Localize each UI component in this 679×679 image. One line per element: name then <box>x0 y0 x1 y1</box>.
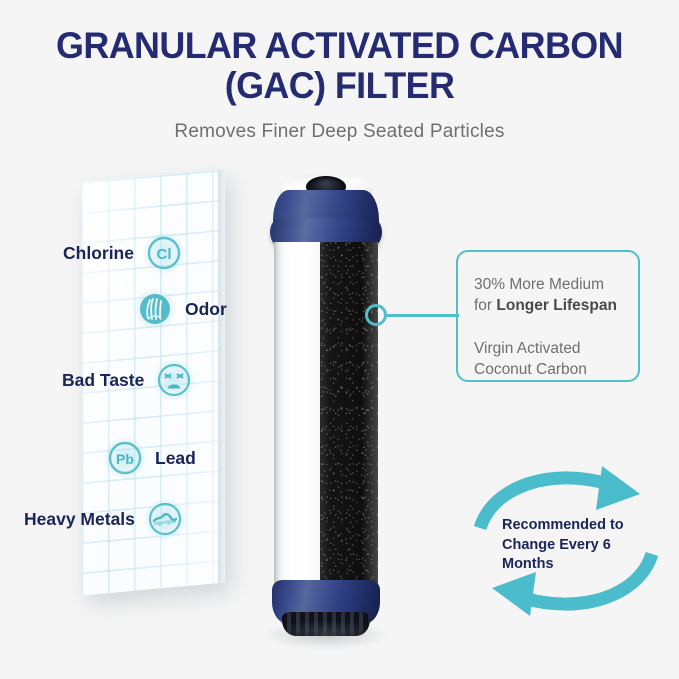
chlorine-cl-icon: Cl <box>143 232 185 274</box>
feature-lead: Pb Lead <box>104 437 196 479</box>
membrane-right-edge <box>218 169 225 583</box>
feature-odor: Odor <box>134 288 227 330</box>
callout-box: 30% More Medium for Longer Lifespan Virg… <box>456 250 640 382</box>
feature-bad-taste-label: Bad Taste <box>62 370 144 391</box>
title-line-1: GRANULAR ACTIVATED CARBON <box>56 25 623 66</box>
callout-line-1-top: 30% More Medium <box>474 276 604 293</box>
cartridge-body <box>274 242 378 590</box>
feature-odor-label: Odor <box>185 299 227 320</box>
title-line-2: (GAC) FILTER <box>10 66 669 106</box>
feature-heavy-metals-label: Heavy Metals <box>24 509 135 530</box>
cartridge-drop-shadow <box>262 620 390 650</box>
svg-text:Pb: Pb <box>116 451 134 467</box>
callout-connector-line <box>386 314 459 317</box>
replacement-interval-badge: Recommended to Change Every 6 Months <box>468 466 664 616</box>
feature-bad-taste: Bad Taste <box>62 359 195 401</box>
callout-line-1-lead: for <box>474 297 496 314</box>
callout-line-1-bold: Longer Lifespan <box>496 297 617 314</box>
replacement-interval-label: Recommended to Change Every 6 Months <box>502 516 636 575</box>
bad-taste-face-icon <box>153 359 195 401</box>
heavy-metals-icon <box>144 498 186 540</box>
page-title: GRANULAR ACTIVATED CARBON (GAC) FILTER <box>10 0 669 106</box>
cartridge-body-highlight <box>274 242 296 590</box>
feature-heavy-metals: Heavy Metals <box>24 498 186 540</box>
odor-waves-icon <box>134 288 176 330</box>
feature-chlorine-label: Chlorine <box>63 243 134 264</box>
page-subtitle: Removes Finer Deep Seated Particles <box>0 106 679 143</box>
feature-chlorine: Chlorine Cl <box>63 232 185 274</box>
callout-line-1: 30% More Medium for Longer Lifespan <box>474 274 638 316</box>
callout-marker-ring <box>365 304 387 326</box>
granular-carbon-media <box>320 242 378 590</box>
header: GRANULAR ACTIVATED CARBON (GAC) FILTER R… <box>0 0 679 143</box>
callout-line-2: Virgin Activated Coconut Carbon <box>474 338 638 380</box>
feature-lead-label: Lead <box>155 448 196 469</box>
lead-pb-icon: Pb <box>104 437 146 479</box>
filter-cartridge <box>262 172 390 647</box>
infographic-canvas: GRANULAR ACTIVATED CARBON (GAC) FILTER R… <box>0 0 679 679</box>
svg-text:Cl: Cl <box>156 246 171 263</box>
